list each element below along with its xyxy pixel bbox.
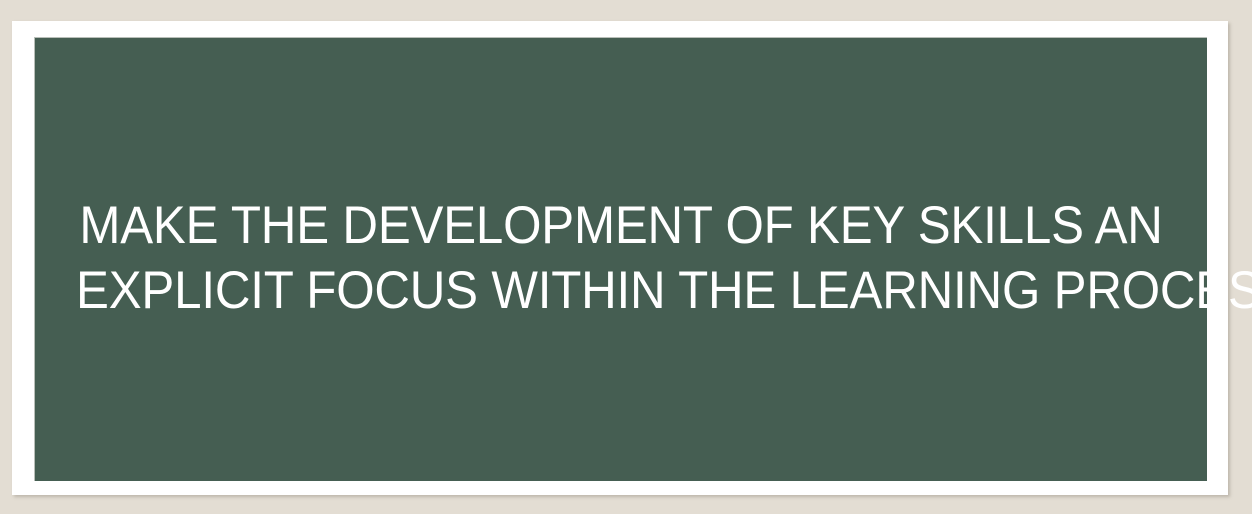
headline-line-1: MAKE THE DEVELOPMENT OF KEY SKILLS AN (76, 193, 1166, 258)
slide-frame: MAKE THE DEVELOPMENT OF KEY SKILLS AN EX… (12, 21, 1228, 495)
slide-content-panel: MAKE THE DEVELOPMENT OF KEY SKILLS AN EX… (34, 37, 1207, 481)
headline-line-2: EXPLICIT FOCUS WITHIN THE LEARNING PROCE… (76, 258, 1166, 323)
slide-canvas: MAKE THE DEVELOPMENT OF KEY SKILLS AN EX… (0, 0, 1252, 514)
headline-text-block: MAKE THE DEVELOPMENT OF KEY SKILLS AN EX… (76, 193, 1166, 327)
